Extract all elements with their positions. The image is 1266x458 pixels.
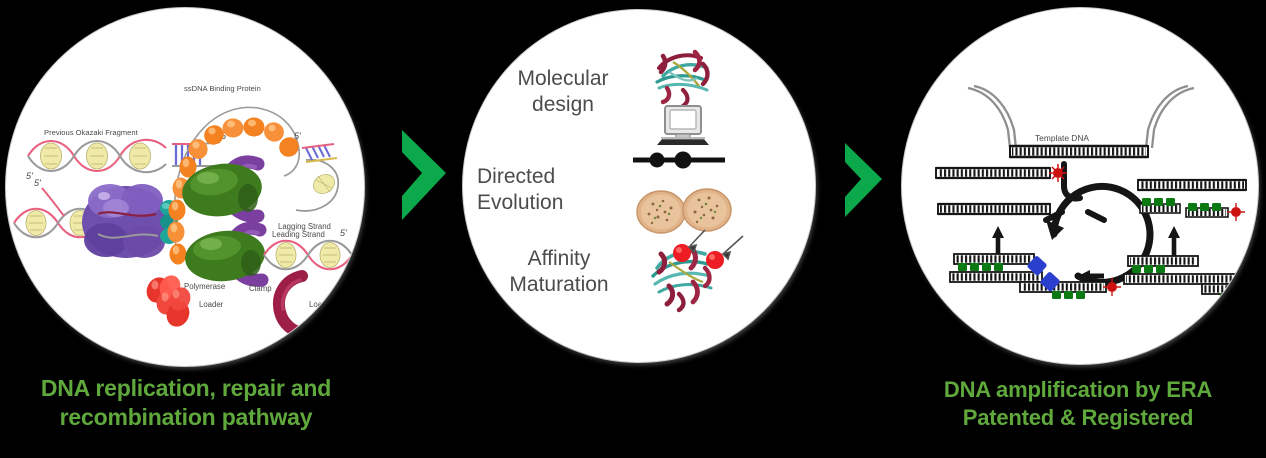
- primed-template-right: [1124, 256, 1256, 301]
- label-template-dna: Template DNA: [1035, 133, 1089, 143]
- molecular-design-art: [643, 38, 729, 146]
- label-5prime-c: 5': [34, 178, 41, 188]
- label-loader-right: Loader: [309, 300, 334, 309]
- label-5prime-d: 5': [294, 131, 301, 141]
- panel-dna-replication: Previous Okazaki Fragment 5' 5' 5': [6, 8, 364, 366]
- label-clamp: Clamp: [249, 284, 272, 293]
- amplicon-left-upper: [938, 204, 1050, 214]
- label-previous-okazaki-fragment: Previous Okazaki Fragment: [44, 128, 139, 137]
- panel-protein-engineering: Molecular design: [463, 10, 815, 362]
- leading-strand-assembly: Leading Strand 5' Polymerase Clamp: [183, 227, 352, 293]
- primer-fluorophore-right: [1186, 203, 1245, 221]
- label-molecular-design: Molecular design: [493, 66, 633, 117]
- era-amplification-diagram: Template DNA: [902, 8, 1258, 364]
- protein-engineering-rows: Molecular design: [463, 10, 815, 362]
- arrow-stage-1-to-2: [396, 126, 458, 224]
- panel-dna-amplification: Template DNA: [902, 8, 1258, 364]
- template-dna: Template DNA: [968, 86, 1194, 157]
- amplicon-right-upper: [1138, 180, 1246, 190]
- gene-construct-icon: [633, 152, 725, 169]
- label-leading-strand: Leading Strand: [272, 230, 325, 239]
- row-molecular-design: Molecular design: [493, 38, 793, 146]
- label-directed-evolution: Directed Evolution: [477, 164, 617, 215]
- caption-dna-amplification: DNA amplification by ERA Patented & Regi…: [890, 376, 1266, 432]
- label-ssdna-binding-protein: ssDNA Binding Protein: [184, 84, 261, 93]
- label-5prime-a: 5': [26, 171, 33, 181]
- diagram-canvas: Previous Okazaki Fragment 5' 5' 5': [0, 0, 1266, 458]
- clamp-loader-red: Loader: [143, 272, 224, 331]
- affinity-maturation-art: [639, 224, 751, 320]
- protein-binding-site-icon: [653, 230, 743, 310]
- label-affinity-maturation: Affinity Maturation: [489, 246, 629, 297]
- label-loader-left: Loader: [199, 300, 224, 309]
- free-primer-green: [1140, 198, 1180, 213]
- protein-ribbon-icon: [657, 52, 708, 106]
- label-5prime-e: 5': [340, 228, 347, 238]
- amplicon-left-mid: [936, 164, 1067, 182]
- arrow-stage-2-to-3: [840, 140, 892, 220]
- row-affinity-maturation: Affinity Maturation: [489, 224, 799, 320]
- caption-dna-replication: DNA replication, repair and recombinatio…: [0, 374, 372, 433]
- clamp-loader-maroon: Loader: [279, 276, 334, 333]
- dna-replication-fork-diagram: Previous Okazaki Fragment 5' 5' 5': [6, 8, 364, 366]
- label-polymerase: Polymerase: [184, 282, 225, 291]
- helicase-protein: [82, 184, 170, 258]
